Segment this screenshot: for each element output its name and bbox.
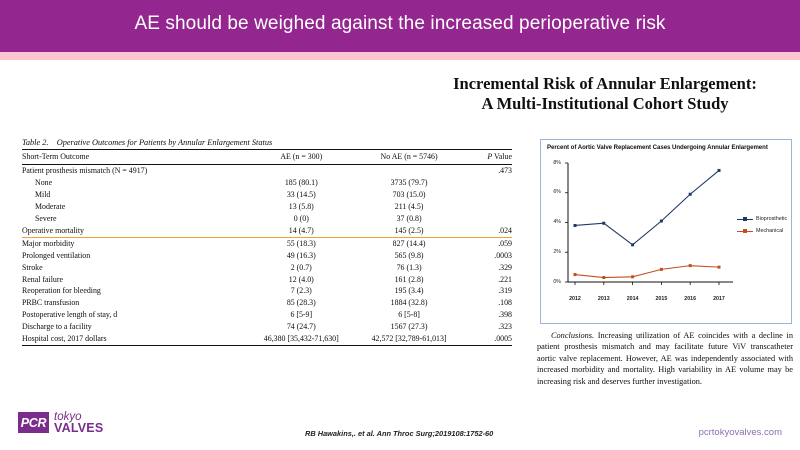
table-row: Postoperative length of stay, d6 [5-9]6 … — [22, 309, 512, 321]
data-point — [718, 266, 721, 269]
table-caption: Table 2. Operative Outcomes for Patients… — [22, 138, 512, 149]
cell-no-ae: 42,572 [32,789-61,013] — [355, 333, 463, 345]
cell-outcome: Severe — [22, 213, 247, 225]
cell-p-value: .059 — [463, 237, 512, 249]
cell-no-ae: 703 (15.0) — [355, 189, 463, 201]
data-point — [689, 264, 692, 267]
table-body: Patient prosthesis mismatch (N = 4917).4… — [22, 165, 512, 346]
column-header-ae: AE (n = 300) — [247, 150, 355, 165]
data-point — [631, 275, 634, 278]
cell-p-value: .473 — [463, 165, 512, 177]
legend-label: Bioprosthetic — [756, 216, 787, 222]
cell-p-value — [463, 201, 512, 213]
x-tick-label: 2017 — [707, 296, 731, 302]
table-row: Operative mortality14 (4.7)145 (2.5).024 — [22, 225, 512, 237]
y-tick-label: 0% — [545, 279, 561, 285]
cell-no-ae: 3735 (79.7) — [355, 177, 463, 189]
data-point — [574, 273, 577, 276]
table-row: Prolonged ventilation49 (16.3)565 (9.8).… — [22, 250, 512, 262]
series-line-mechanical — [575, 266, 719, 278]
cell-no-ae: 6 [5-8] — [355, 309, 463, 321]
y-tick-label: 6% — [545, 189, 561, 195]
y-tick-label: 8% — [545, 160, 561, 166]
x-tick-label: 2013 — [592, 296, 616, 302]
table-row: Renal failure12 (4.0)161 (2.8).221 — [22, 274, 512, 286]
column-header-outcome: Short-Term Outcome — [22, 150, 247, 165]
cell-ae: 0 (0) — [247, 213, 355, 225]
logo-word-valves: VALVES — [54, 423, 103, 434]
cell-ae — [247, 165, 355, 177]
cell-outcome: Stroke — [22, 262, 247, 274]
table-caption-text: Operative Outcomes for Patients by Annul… — [57, 138, 272, 147]
table-row: Severe0 (0)37 (0.8) — [22, 213, 512, 225]
cell-p-value — [463, 189, 512, 201]
cell-p-value: .0003 — [463, 250, 512, 262]
x-tick-label: 2016 — [678, 296, 702, 302]
y-tick-label: 4% — [545, 219, 561, 225]
cell-ae: 2 (0.7) — [247, 262, 355, 274]
cell-p-value — [463, 177, 512, 189]
cell-outcome: Hospital cost, 2017 dollars — [22, 333, 247, 345]
chart-legend: BioprostheticMechanical — [737, 213, 787, 237]
cell-ae: 46,380 [35,432-71,630] — [247, 333, 355, 345]
cell-outcome: Reoperation for bleeding — [22, 285, 247, 297]
legend-marker-icon — [737, 228, 753, 235]
cell-no-ae: 195 (3.4) — [355, 285, 463, 297]
data-point — [602, 276, 605, 279]
chart-panel: Percent of Aortic Valve Replacement Case… — [540, 139, 792, 324]
cell-no-ae: 37 (0.8) — [355, 213, 463, 225]
cell-ae: 185 (80.1) — [247, 177, 355, 189]
conclusions-paragraph: Conclusions. Increasing utilization of A… — [537, 330, 793, 387]
cell-outcome: Major morbidity — [22, 237, 247, 249]
cell-p-value: .323 — [463, 321, 512, 333]
operative-outcomes-table: Short-Term Outcome AE (n = 300) No AE (n… — [22, 149, 512, 346]
x-tick-label: 2014 — [621, 296, 645, 302]
cell-no-ae: 1884 (32.8) — [355, 297, 463, 309]
cell-no-ae: 161 (2.8) — [355, 274, 463, 286]
data-point — [660, 268, 663, 271]
cell-outcome: Patient prosthesis mismatch (N = 4917) — [22, 165, 247, 177]
cell-p-value: .329 — [463, 262, 512, 274]
outcomes-table-block: Table 2. Operative Outcomes for Patients… — [22, 138, 512, 346]
table-row: Patient prosthesis mismatch (N = 4917).4… — [22, 165, 512, 177]
legend-marker-icon — [737, 216, 753, 223]
cell-ae: 12 (4.0) — [247, 274, 355, 286]
cell-no-ae: 827 (14.4) — [355, 237, 463, 249]
data-point — [574, 224, 577, 227]
cell-ae: 14 (4.7) — [247, 225, 355, 237]
table-row: Moderate13 (5.8)211 (4.5) — [22, 201, 512, 213]
cell-outcome: PRBC transfusion — [22, 297, 247, 309]
table-row: None185 (80.1)3735 (79.7) — [22, 177, 512, 189]
table-caption-label: Table 2. — [22, 138, 48, 147]
cell-no-ae: 1567 (27.3) — [355, 321, 463, 333]
cell-ae: 33 (14.5) — [247, 189, 355, 201]
cell-outcome: Postoperative length of stay, d — [22, 309, 247, 321]
cell-ae: 49 (16.3) — [247, 250, 355, 262]
cell-outcome: Prolonged ventilation — [22, 250, 247, 262]
site-url[interactable]: pcrtokyovalves.com — [699, 427, 782, 438]
cell-ae: 55 (18.3) — [247, 237, 355, 249]
cell-p-value: .319 — [463, 285, 512, 297]
logo-badge-pcr: PCR — [18, 412, 49, 433]
cell-outcome: Renal failure — [22, 274, 247, 286]
table-row: Mild33 (14.5)703 (15.0) — [22, 189, 512, 201]
logo-wordmark: tokyo VALVES — [54, 412, 103, 433]
x-tick-label: 2012 — [563, 296, 587, 302]
p-rest: Value — [492, 152, 512, 161]
table-row: Reoperation for bleeding7 (2.3)195 (3.4)… — [22, 285, 512, 297]
cell-p-value: .024 — [463, 225, 512, 237]
data-point — [602, 222, 605, 225]
cell-ae: 6 [5-9] — [247, 309, 355, 321]
table-header: Short-Term Outcome AE (n = 300) No AE (n… — [22, 150, 512, 165]
line-chart-svg — [565, 159, 735, 292]
cell-p-value: .108 — [463, 297, 512, 309]
cell-p-value — [463, 213, 512, 225]
cell-p-value: .0005 — [463, 333, 512, 345]
data-point — [631, 243, 634, 246]
table-row: PRBC transfusion85 (28.3)1884 (32.8).108 — [22, 297, 512, 309]
cell-no-ae: 565 (9.8) — [355, 250, 463, 262]
legend-item: Mechanical — [737, 225, 787, 237]
cell-outcome: Mild — [22, 189, 247, 201]
page-title: AE should be weighed against the increas… — [0, 13, 800, 35]
table-header-row: Short-Term Outcome AE (n = 300) No AE (n… — [22, 150, 512, 165]
cell-p-value: .221 — [463, 274, 512, 286]
cell-ae: 7 (2.3) — [247, 285, 355, 297]
conclusions-label: Conclusions. — [551, 331, 594, 340]
table-row: Major morbidity55 (18.3)827 (14.4).059 — [22, 237, 512, 249]
y-tick-label: 2% — [545, 249, 561, 255]
data-point — [660, 220, 663, 223]
column-header-no-ae: No AE (n = 5746) — [355, 150, 463, 165]
cell-ae: 85 (28.3) — [247, 297, 355, 309]
study-heading-line-1: Incremental Risk of Annular Enlargement: — [420, 74, 790, 94]
chart-axes — [568, 163, 733, 282]
data-point — [718, 169, 721, 172]
table-row: Stroke2 (0.7)76 (1.3).329 — [22, 262, 512, 274]
cell-outcome: None — [22, 177, 247, 189]
legend-label: Mechanical — [756, 228, 783, 234]
title-accent-strip — [0, 52, 800, 60]
table-row: Discharge to a facility74 (24.7)1567 (27… — [22, 321, 512, 333]
study-heading: Incremental Risk of Annular Enlargement:… — [420, 74, 790, 114]
study-heading-line-2: A Multi-Institutional Cohort Study — [420, 94, 790, 114]
table-row: Hospital cost, 2017 dollars46,380 [35,43… — [22, 333, 512, 345]
cell-ae: 74 (24.7) — [247, 321, 355, 333]
cell-ae: 13 (5.8) — [247, 201, 355, 213]
cell-p-value: .398 — [463, 309, 512, 321]
chart-title: Percent of Aortic Valve Replacement Case… — [547, 144, 789, 151]
x-tick-label: 2015 — [649, 296, 673, 302]
cell-outcome: Operative mortality — [22, 225, 247, 237]
column-header-p-value: P Value — [463, 150, 512, 165]
cell-no-ae: 76 (1.3) — [355, 262, 463, 274]
cell-no-ae: 145 (2.5) — [355, 225, 463, 237]
legend-item: Bioprosthetic — [737, 213, 787, 225]
cell-outcome: Discharge to a facility — [22, 321, 247, 333]
data-point — [689, 193, 692, 196]
source-citation: RB Hawakins,. et al. Ann Throc Surg;2019… — [305, 429, 493, 438]
cell-no-ae: 211 (4.5) — [355, 201, 463, 213]
slide-title-banner: AE should be weighed against the increas… — [0, 0, 800, 52]
cell-no-ae — [355, 165, 463, 177]
chart-plot-area — [565, 159, 735, 292]
series-line-bioprosthetic — [575, 170, 719, 244]
pcr-tokyo-valves-logo: PCR tokyo VALVES — [18, 412, 103, 433]
cell-outcome: Moderate — [22, 201, 247, 213]
